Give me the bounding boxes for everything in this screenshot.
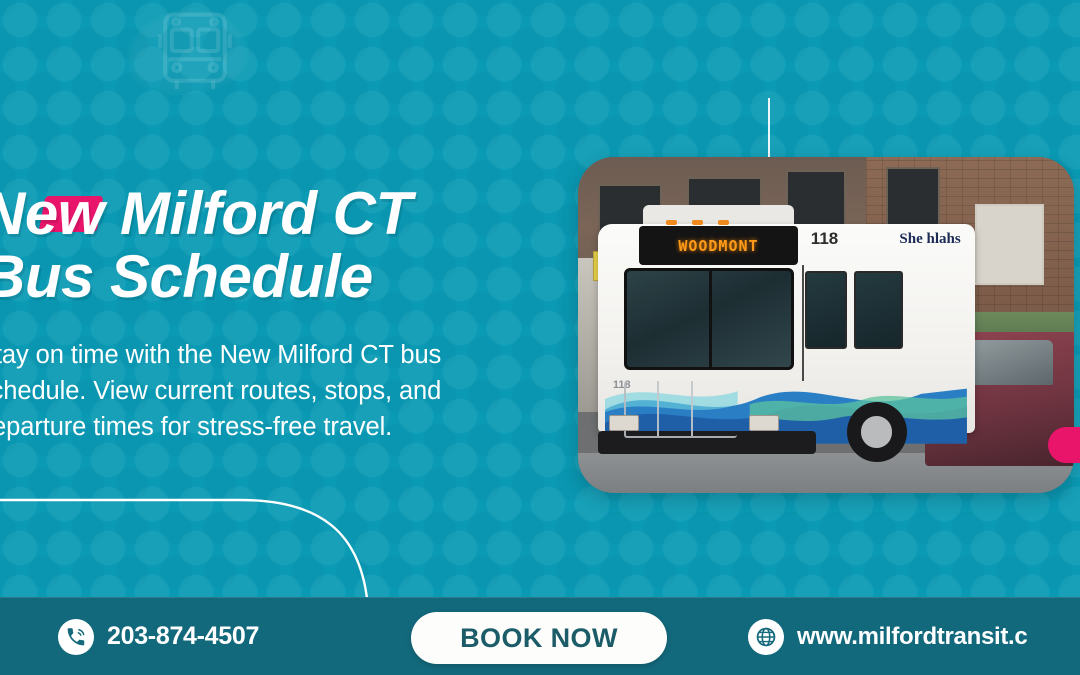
photo-window bbox=[975, 204, 1044, 285]
website-url: www.milfordtransit.c bbox=[797, 623, 1027, 651]
bus-destination-text: WOODMONT bbox=[678, 237, 758, 255]
bus-fleet-number: 118 bbox=[811, 229, 838, 249]
bus-photo: WOODMONT 118 She hlahs 118 bbox=[578, 157, 1074, 493]
bus-side-window bbox=[805, 271, 846, 350]
bus-destination-sign: WOODMONT bbox=[639, 226, 797, 265]
bus-side-window bbox=[854, 271, 903, 350]
photo-transit-bus: WOODMONT 118 She hlahs 118 bbox=[598, 197, 975, 459]
bus-windshield-divider bbox=[709, 271, 712, 367]
bus-door-edge bbox=[802, 265, 804, 380]
phone-contact[interactable]: 203-874-4507 bbox=[58, 619, 259, 655]
bus-roof-marker-light bbox=[692, 220, 703, 225]
bus-roof-marker-light bbox=[666, 220, 677, 225]
promo-banner: New Milford CT Bus Schedule Stay on time… bbox=[0, 0, 1080, 675]
bus-side-advertisement: She hlahs bbox=[899, 231, 974, 283]
website-contact[interactable]: www.milfordtransit.c bbox=[748, 619, 1027, 655]
headline-line-2: Bus Schedule bbox=[0, 245, 602, 308]
phone-number: 203-874-4507 bbox=[107, 622, 259, 651]
pink-accent-tab bbox=[1048, 427, 1080, 463]
decorative-swoosh-line bbox=[0, 470, 420, 610]
page-title: New Milford CT Bus Schedule bbox=[0, 182, 602, 308]
bus-roof-marker-light bbox=[718, 220, 729, 225]
bus-headlight bbox=[749, 415, 779, 431]
bus-icon bbox=[140, 8, 250, 94]
photo-hanging-line bbox=[768, 98, 770, 160]
bus-windshield bbox=[624, 268, 794, 370]
bus-wheel bbox=[847, 402, 907, 462]
phone-icon bbox=[58, 619, 94, 655]
headline-line-1: New Milford CT bbox=[0, 180, 412, 247]
bus-bike-rack bbox=[624, 381, 737, 439]
bus-headlight bbox=[609, 415, 639, 431]
subheading-text: Stay on time with the New Milford CT bus… bbox=[0, 337, 538, 445]
globe-icon bbox=[748, 619, 784, 655]
book-now-button[interactable]: BOOK NOW bbox=[411, 612, 667, 664]
